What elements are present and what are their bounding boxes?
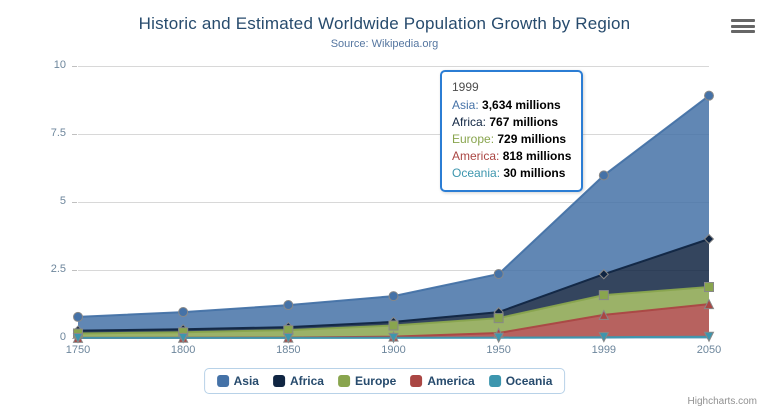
- data-point-marker[interactable]: [599, 291, 608, 300]
- legend-label: Oceania: [506, 374, 553, 388]
- data-point-marker[interactable]: [74, 312, 83, 321]
- chart-subtitle: Source: Wikipedia.org: [0, 38, 769, 50]
- y-axis-label: 10: [16, 59, 66, 71]
- data-point-marker[interactable]: [389, 321, 398, 330]
- data-point-marker[interactable]: [284, 301, 293, 310]
- plot-area: [78, 66, 709, 338]
- legend-label: America: [427, 374, 474, 388]
- tooltip-series-name: Oceania:: [452, 166, 503, 180]
- legend-symbol: [217, 375, 229, 387]
- y-axis-label: 2.5: [16, 263, 66, 275]
- tooltip-series-value: 3,634 millions: [482, 98, 561, 112]
- y-axis-tick: [72, 202, 77, 203]
- tooltip-rows: Asia: 3,634 millionsAfrica: 767 millions…: [452, 97, 571, 182]
- tooltip-series-value: 729 millions: [497, 132, 566, 146]
- chart-title: Historic and Estimated Worldwide Populat…: [0, 14, 769, 34]
- tooltip-header: 1999: [452, 79, 571, 97]
- credits-link[interactable]: Highcharts.com: [688, 396, 757, 407]
- x-axis-label: 2050: [679, 344, 739, 356]
- data-point-marker[interactable]: [705, 91, 714, 100]
- legend-symbol: [410, 375, 422, 387]
- legend-item-asia[interactable]: Asia: [217, 374, 259, 388]
- tooltip-row: Europe: 729 millions: [452, 131, 571, 148]
- y-axis-tick: [72, 270, 77, 271]
- tooltip-series-name: Europe:: [452, 132, 497, 146]
- legend-item-africa[interactable]: Africa: [273, 374, 324, 388]
- x-axis-label: 1750: [48, 344, 108, 356]
- legend-symbol: [273, 375, 285, 387]
- legend-label: Africa: [290, 374, 324, 388]
- tooltip-row: Oceania: 30 millions: [452, 165, 571, 182]
- tooltip-row: America: 818 millions: [452, 148, 571, 165]
- legend-symbol: [338, 375, 350, 387]
- highcharts-container: Historic and Estimated Worldwide Populat…: [0, 0, 769, 416]
- data-point-marker[interactable]: [705, 283, 714, 292]
- x-axis-label: 1800: [153, 344, 213, 356]
- legend-label: Asia: [234, 374, 259, 388]
- legend[interactable]: AsiaAfricaEuropeAmericaOceania: [204, 368, 566, 394]
- hamburger-menu-icon[interactable]: [731, 16, 755, 36]
- y-axis-tick: [72, 66, 77, 67]
- tooltip-series-name: Africa:: [452, 115, 489, 129]
- tooltip-series-name: America:: [452, 149, 503, 163]
- y-axis-label: 0: [16, 331, 66, 343]
- legend-item-europe[interactable]: Europe: [338, 374, 396, 388]
- tooltip-series-value: 818 millions: [503, 149, 572, 163]
- tooltip-series-name: Asia:: [452, 98, 482, 112]
- series-layer: [78, 66, 709, 338]
- data-point-marker[interactable]: [494, 269, 503, 278]
- tooltip-series-value: 767 millions: [489, 115, 558, 129]
- tooltip-row: Asia: 3,634 millions: [452, 97, 571, 114]
- legend-item-oceania[interactable]: Oceania: [489, 374, 553, 388]
- x-axis-label: 1850: [258, 344, 318, 356]
- tooltip-row: Africa: 767 millions: [452, 114, 571, 131]
- data-point-marker[interactable]: [494, 314, 503, 323]
- data-point-marker[interactable]: [599, 171, 608, 180]
- x-axis-label: 1900: [364, 344, 424, 356]
- legend-symbol: [489, 375, 501, 387]
- x-axis-label: 1999: [574, 344, 634, 356]
- data-point-marker[interactable]: [179, 308, 188, 317]
- legend-item-america[interactable]: America: [410, 374, 474, 388]
- y-axis-label: 5: [16, 195, 66, 207]
- tooltip-series-value: 30 millions: [503, 166, 565, 180]
- x-axis-label: 1950: [469, 344, 529, 356]
- tooltip: 1999 Asia: 3,634 millionsAfrica: 767 mil…: [440, 70, 583, 192]
- legend-label: Europe: [355, 374, 396, 388]
- y-axis-label: 7.5: [16, 127, 66, 139]
- data-point-marker[interactable]: [389, 292, 398, 301]
- y-axis-tick: [72, 134, 77, 135]
